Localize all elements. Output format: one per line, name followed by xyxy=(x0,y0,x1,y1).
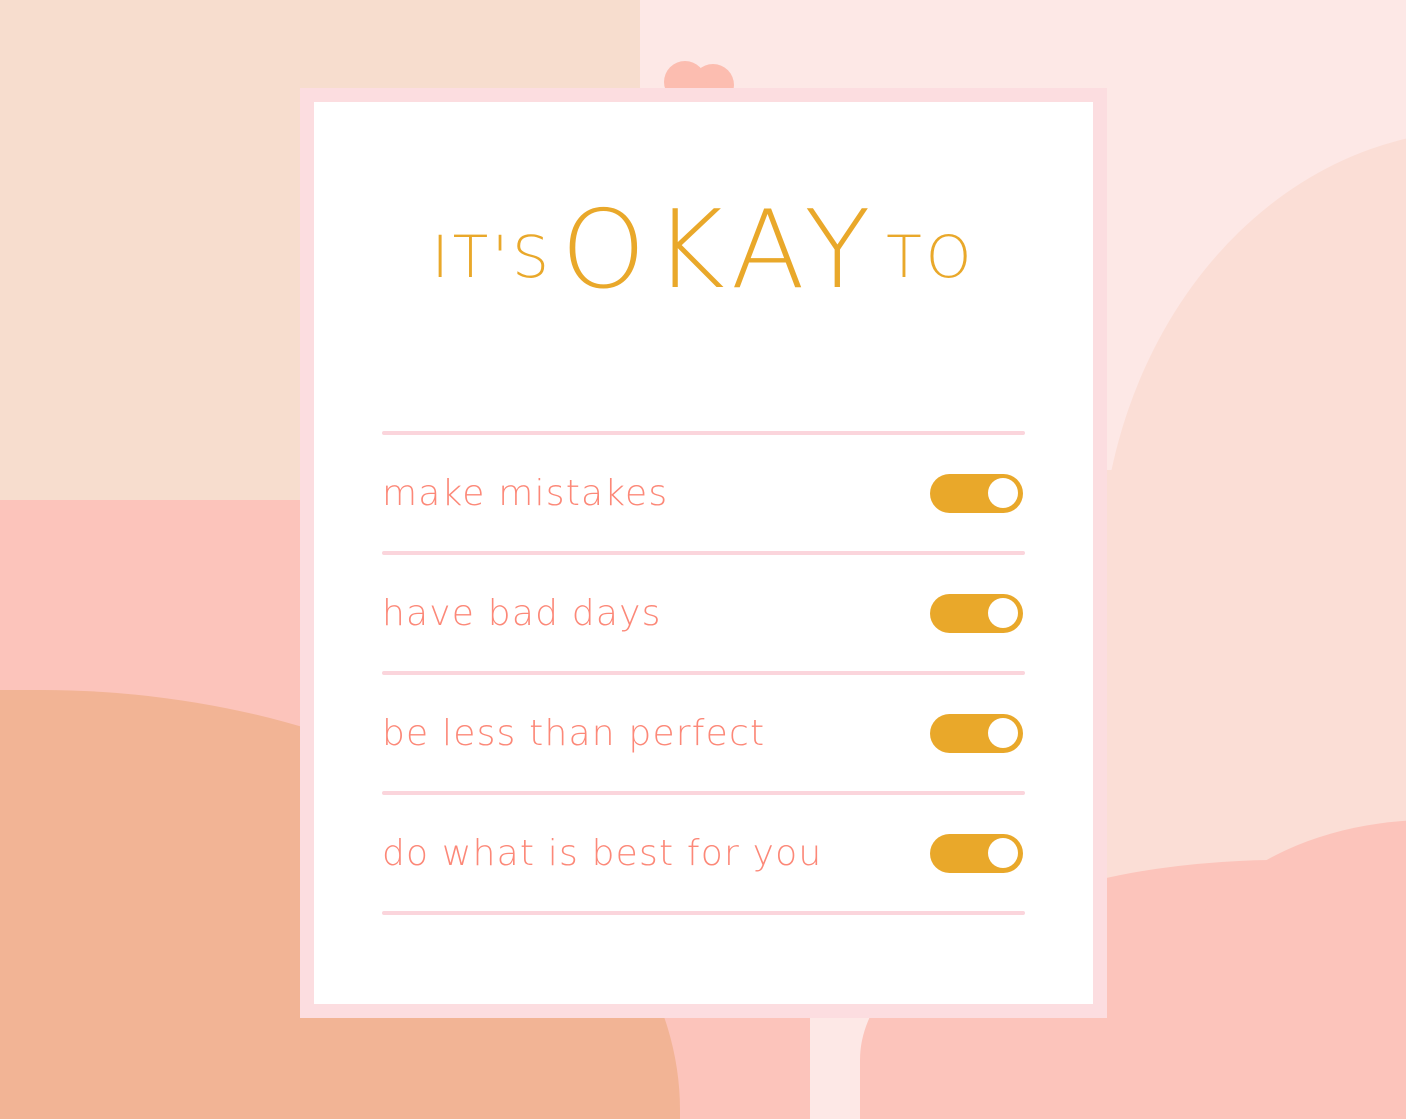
title-suffix: TO xyxy=(886,223,975,291)
title-prefix: IT'S xyxy=(432,223,553,291)
toggle-knob xyxy=(988,838,1018,868)
list-item-label: be less than perfect xyxy=(382,713,765,754)
poster-canvas: IT'SOKAYTO make mistakes have bad days xyxy=(0,0,1406,1119)
toggle-knob xyxy=(988,598,1018,628)
list-item[interactable]: have bad days xyxy=(382,555,1025,671)
list-item-label: make mistakes xyxy=(382,473,668,514)
list-item-label: do what is best for you xyxy=(382,833,822,874)
page-title: IT'SOKAYTO xyxy=(314,197,1093,305)
note-card: IT'SOKAYTO make mistakes have bad days xyxy=(300,88,1107,1018)
note-card-surface: IT'SOKAYTO make mistakes have bad days xyxy=(314,102,1093,1004)
toggle-have-bad-days[interactable] xyxy=(930,594,1023,633)
list-item[interactable]: do what is best for you xyxy=(382,795,1025,911)
toggle-be-less-than-perfect[interactable] xyxy=(930,714,1023,753)
toggle-do-what-is-best-for-you[interactable] xyxy=(930,834,1023,873)
list-separator xyxy=(382,911,1025,915)
toggle-make-mistakes[interactable] xyxy=(930,474,1023,513)
affirmation-list: make mistakes have bad days be less than… xyxy=(382,431,1025,915)
title-emphasis: OKAY xyxy=(561,188,878,313)
toggle-knob xyxy=(988,718,1018,748)
list-item[interactable]: be less than perfect xyxy=(382,675,1025,791)
list-item[interactable]: make mistakes xyxy=(382,435,1025,551)
toggle-knob xyxy=(988,478,1018,508)
list-item-label: have bad days xyxy=(382,593,662,634)
